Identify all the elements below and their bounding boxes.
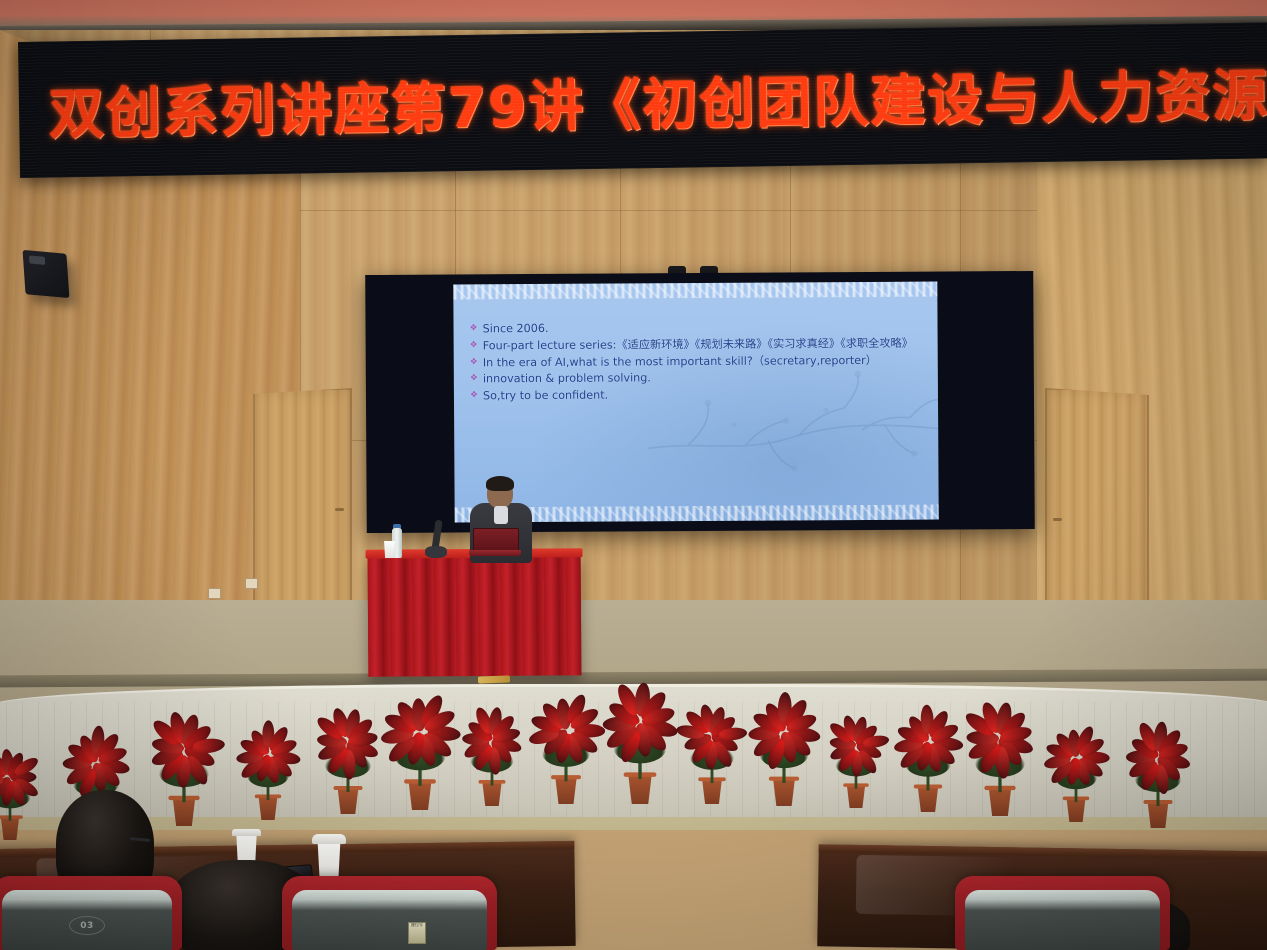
paper-cup-rim	[232, 829, 261, 836]
cup-lid	[312, 834, 346, 844]
poinsettia-bloom	[1120, 728, 1196, 784]
audience-seat[interactable]: 03	[0, 876, 182, 950]
poinsettia-bloom	[233, 729, 302, 780]
laptop	[469, 528, 521, 556]
bullet-diamond-icon: ❖	[470, 339, 478, 353]
stage-paper-cup	[383, 541, 396, 558]
audience-seat[interactable]	[955, 876, 1170, 950]
poinsettia-bloom	[744, 701, 824, 760]
wall-speaker-icon	[23, 250, 70, 298]
poinsettia-bloom	[959, 708, 1041, 768]
poinsettia-bloom	[676, 709, 748, 762]
bullet-diamond-icon: ❖	[470, 389, 478, 403]
audience-seat[interactable]: 座位号	[282, 876, 497, 950]
slide-bullet-text: In the era of AI,what is the most import…	[483, 353, 926, 370]
slide-border-top	[453, 282, 937, 300]
seat-back	[965, 890, 1160, 950]
poinsettia-plant	[230, 720, 306, 820]
slide-bullet-item: ❖ Since 2006.	[470, 320, 926, 338]
poinsettia-bloom	[143, 718, 225, 778]
slide-bullet-item: ❖ So,try to be confident.	[470, 387, 926, 405]
led-banner-board: 双创系列讲座第79讲《初创团队建设与人力资源管理风险管控要	[18, 22, 1267, 178]
floor-object	[478, 675, 510, 683]
seat-back	[292, 890, 487, 950]
slide-bullet-text: innovation & problem solving.	[483, 370, 926, 387]
laptop-lid	[473, 528, 519, 552]
slide-bullet-list: ❖ Since 2006. ❖ Four-part lecture series…	[470, 320, 927, 407]
presenter-desk: 许宏报	[368, 555, 582, 676]
poinsettia-plant	[1038, 722, 1114, 822]
poinsettia-bloom	[597, 691, 683, 754]
poinsettia-bloom	[59, 734, 133, 789]
poinsettia-plant	[740, 691, 828, 807]
slide-bullet-text: Since 2006.	[483, 320, 926, 337]
poinsettia-plant	[819, 711, 893, 808]
poinsettia-plant	[1116, 718, 1200, 828]
presenter-shirt	[494, 506, 508, 524]
poinsettia-bloom	[378, 700, 462, 762]
bullet-diamond-icon: ❖	[470, 356, 478, 370]
poinsettia-plant	[955, 697, 1046, 816]
poinsettia-plant	[453, 704, 531, 806]
poinsettia-bloom	[823, 720, 890, 769]
led-banner-text: 双创系列讲座第79讲《初创团队建设与人力资源管理风险管控要	[48, 48, 1267, 150]
bullet-diamond-icon: ❖	[470, 373, 478, 387]
flower-pot-rim	[0, 815, 23, 819]
slide-bullet-item: ❖ In the era of AI,what is the most impo…	[470, 353, 926, 371]
slide-bullet-item: ❖ Four-part lecture series:《适应新环境》《规划未来路…	[470, 336, 926, 354]
speaker-label	[29, 255, 46, 264]
laptop-base	[469, 550, 521, 556]
bullet-diamond-icon: ❖	[470, 322, 478, 336]
slide-bullet-text: So,try to be confident.	[483, 387, 926, 404]
poinsettia-bloom	[1041, 731, 1110, 782]
slide-bullet-text: Four-part lecture series:《适应新环境》《规划未来路》《…	[483, 336, 926, 353]
door-handle-icon	[1053, 518, 1062, 521]
power-outlet	[208, 588, 221, 599]
microphone-base	[425, 546, 447, 558]
seat-sticker: 座位号	[408, 922, 426, 944]
projection-screen-frame: ❖ Since 2006. ❖ Four-part lecture series…	[365, 271, 1035, 533]
lecture-hall-photo: 双创系列讲座第79讲《初创团队建设与人力资源管理风险管控要	[0, 0, 1267, 950]
poinsettia-plant	[0, 743, 47, 840]
seat-number: 03	[69, 916, 105, 935]
poinsettia-bloom	[0, 752, 43, 801]
poinsettia-bloom	[457, 713, 528, 765]
slide-bullet-item: ❖ innovation & problem solving.	[470, 370, 926, 388]
door-handle-icon	[335, 508, 344, 511]
presenter-hair	[486, 476, 514, 491]
